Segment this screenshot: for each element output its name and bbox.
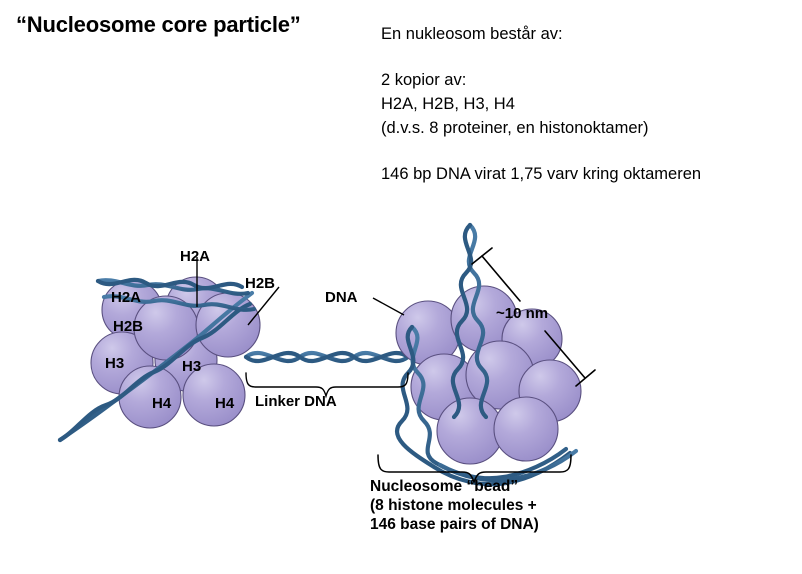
dna-leader-line [373,298,404,315]
figure-caption: Nucleosome “bead” (8 histone molecules +… [370,477,539,534]
scale-cap-bottom [576,370,595,386]
body-line-1: En nukleosom består av: [381,26,701,50]
label-h2b-top: H2B [245,275,275,292]
label-h2a-left: H2A [111,289,141,306]
nucleosome-figure: H2A H2A H2B H2B H3 H3 H4 H4 Linker DNA D… [0,215,802,574]
body-spacer-1 [381,50,701,72]
slide-canvas: “Nucleosome core particle” En nukleosom … [0,0,802,574]
label-dna: DNA [325,289,358,306]
label-h3-left: H3 [105,355,124,372]
page-title: “Nucleosome core particle” [16,12,301,38]
body-text-block: En nukleosom består av: 2 kopior av: H2A… [381,26,701,190]
label-linker-dna: Linker DNA [255,393,337,410]
scale-cap-top [472,248,492,264]
label-h2b-inner: H2B [113,318,143,335]
caption-line-3: 146 base pairs of DNA) [370,515,539,534]
body-spacer-2 [381,144,701,166]
body-line-4: (d.v.s. 8 proteiner, en histonoktamer) [381,120,701,144]
body-line-2: 2 kopior av: [381,72,701,96]
label-h4-left: H4 [152,395,171,412]
right-octamer-spheres [396,286,581,464]
label-h2a-top: H2A [180,248,210,265]
linker-dna-helix [246,353,408,361]
label-h3-mid: H3 [182,358,201,375]
caption-line-1: Nucleosome “bead” [370,477,539,496]
caption-line-2: (8 histone molecules + [370,496,539,515]
label-h4-right: H4 [215,395,234,412]
body-line-5: 146 bp DNA virat 1,75 varv kring oktamer… [381,166,701,190]
label-scale: ~10 nm [496,305,548,322]
body-line-3: H2A, H2B, H3, H4 [381,96,701,120]
